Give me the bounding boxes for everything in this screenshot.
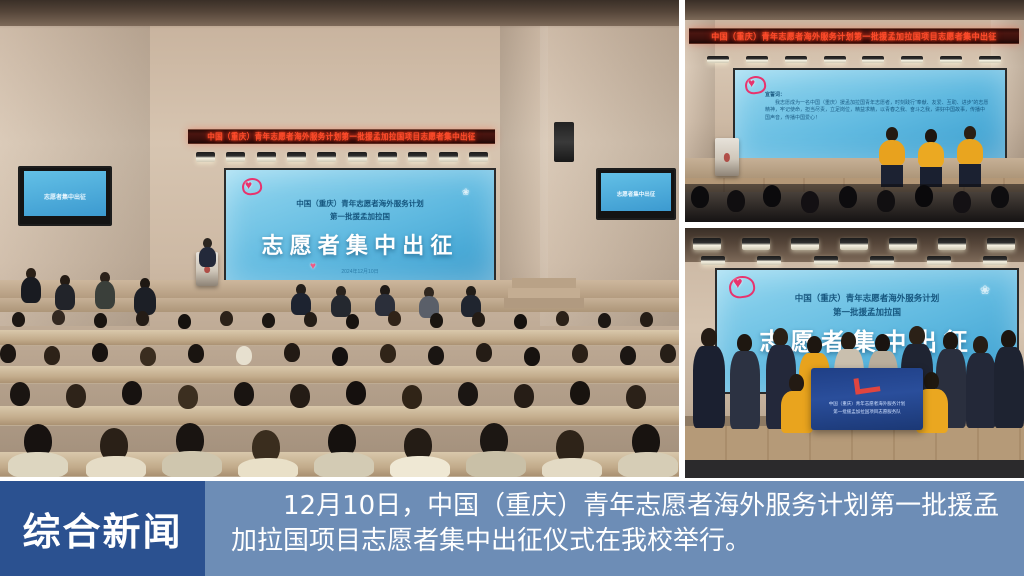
caption-bar: 综合新闻 12月10日，中国（重庆）青年志愿者海外服务计划第一批援孟加拉国项目志…: [0, 481, 1024, 576]
check-heart-icon: [854, 375, 881, 394]
volunteer-2: [918, 142, 944, 168]
oath-title: 宣誓词：: [765, 92, 989, 100]
side-monitor-left-text: 志愿者集中出征: [20, 192, 110, 201]
side-monitor-left: 志愿者集中出征: [18, 166, 112, 226]
podium-top-right: [715, 138, 739, 176]
photo-main-auditorium: 中国（重庆）青年志愿者海外服务计划第一批援孟加拉国项目志愿者集中出征: [0, 0, 679, 477]
logo-badge-icon: ❀: [462, 188, 470, 197]
heart-icon-fill: ♥: [748, 77, 755, 89]
heart-icon-fill: ♥: [733, 276, 743, 292]
led-banner-text: 中国（重庆）青年志愿者海外服务计划第一批援孟加拉国项目志愿者集中出征: [207, 130, 476, 142]
team-flag: 中国（重庆）青年志愿者海外服务计划 第一批援孟加拉国项目志愿服务队: [811, 368, 923, 430]
screen-date: 2024年12月10日: [226, 268, 494, 275]
photo-top-right-oath: 中国（重庆）青年志愿者海外服务计划第一批援孟加拉国项目志愿者集中出征 ♥ 宣誓词…: [685, 0, 1024, 222]
kneeling-volunteer-left: [781, 391, 813, 433]
led-banner-main: 中国（重庆）青年志愿者海外服务计划第一批援孟加拉国项目志愿者集中出征: [188, 129, 495, 144]
caption-text: 12月10日，中国（重庆）青年志愿者海外服务计划第一批援孟加拉国项目志愿者集中出…: [231, 489, 1010, 559]
oath-body: 我志愿成为一名中国（重庆）援孟加拉国青年志愿者，时刻践行“奉献、友爱、互助、进步…: [765, 100, 989, 123]
caption-body: 12月10日，中国（重庆）青年志愿者海外服务计划第一批援孟加拉国项目志愿者集中出…: [205, 481, 1024, 576]
led-banner-top-right: 中国（重庆）青年志愿者海外服务计划第一批援孟加拉国项目志愿者集中出征: [689, 28, 1019, 44]
volunteer-1: [879, 140, 905, 166]
stage-screen-main: ♥ 中国（重庆）青年志愿者海外服务计划 第一批援孟加拉国 志愿者集中出征 202…: [224, 168, 496, 284]
screen-headline: 志愿者集中出征: [226, 228, 494, 260]
flag-line2: 第一批援孟加拉国项目志愿服务队: [811, 409, 923, 415]
oath-text-block: 宣誓词： 我志愿成为一名中国（重庆）援孟加拉国青年志愿者，时刻践行“奉献、友爱、…: [765, 92, 989, 122]
volunteer-3: [957, 139, 983, 165]
side-monitor-right: 志愿者集中出征: [596, 168, 676, 220]
logo-badge-icon-br: ❀: [980, 284, 990, 296]
screen-line1-br: 中国（重庆）青年志愿者海外服务计划: [717, 292, 1017, 304]
side-monitor-right-text: 志愿者集中出征: [598, 190, 674, 198]
flag-line1: 中国（重庆）青年志愿者海外服务计划: [811, 401, 923, 407]
photo-bottom-right-group: ♥ 中国（重庆）青年志愿者海外服务计划 第一批援孟加拉国 志愿者集中出征 ❀: [685, 228, 1024, 478]
screen-headline-br: 志愿者集中出征: [717, 322, 1017, 357]
photo-collage: 中国（重庆）青年志愿者海外服务计划第一批援孟加拉国项目志愿者集中出征: [0, 0, 1024, 478]
category-tag-text: 综合新闻: [22, 501, 182, 556]
news-collage-page: 中国（重庆）青年志愿者海外服务计划第一批援孟加拉国项目志愿者集中出征: [0, 0, 1024, 576]
screen-line2: 第一批援孟加拉国: [226, 211, 494, 222]
category-tag: 综合新闻: [0, 481, 205, 576]
heart-icon-fill: ♥: [245, 179, 252, 191]
screen-line1: 中国（重庆）青年志愿者海外服务计划: [226, 198, 494, 209]
screen-line2-br: 第一批援孟加拉国: [717, 306, 1017, 318]
heart-icon-small: ♥: [310, 262, 316, 272]
led-banner-text-tr: 中国（重庆）青年志愿者海外服务计划第一批援孟加拉国项目志愿者集中出征: [711, 30, 997, 42]
